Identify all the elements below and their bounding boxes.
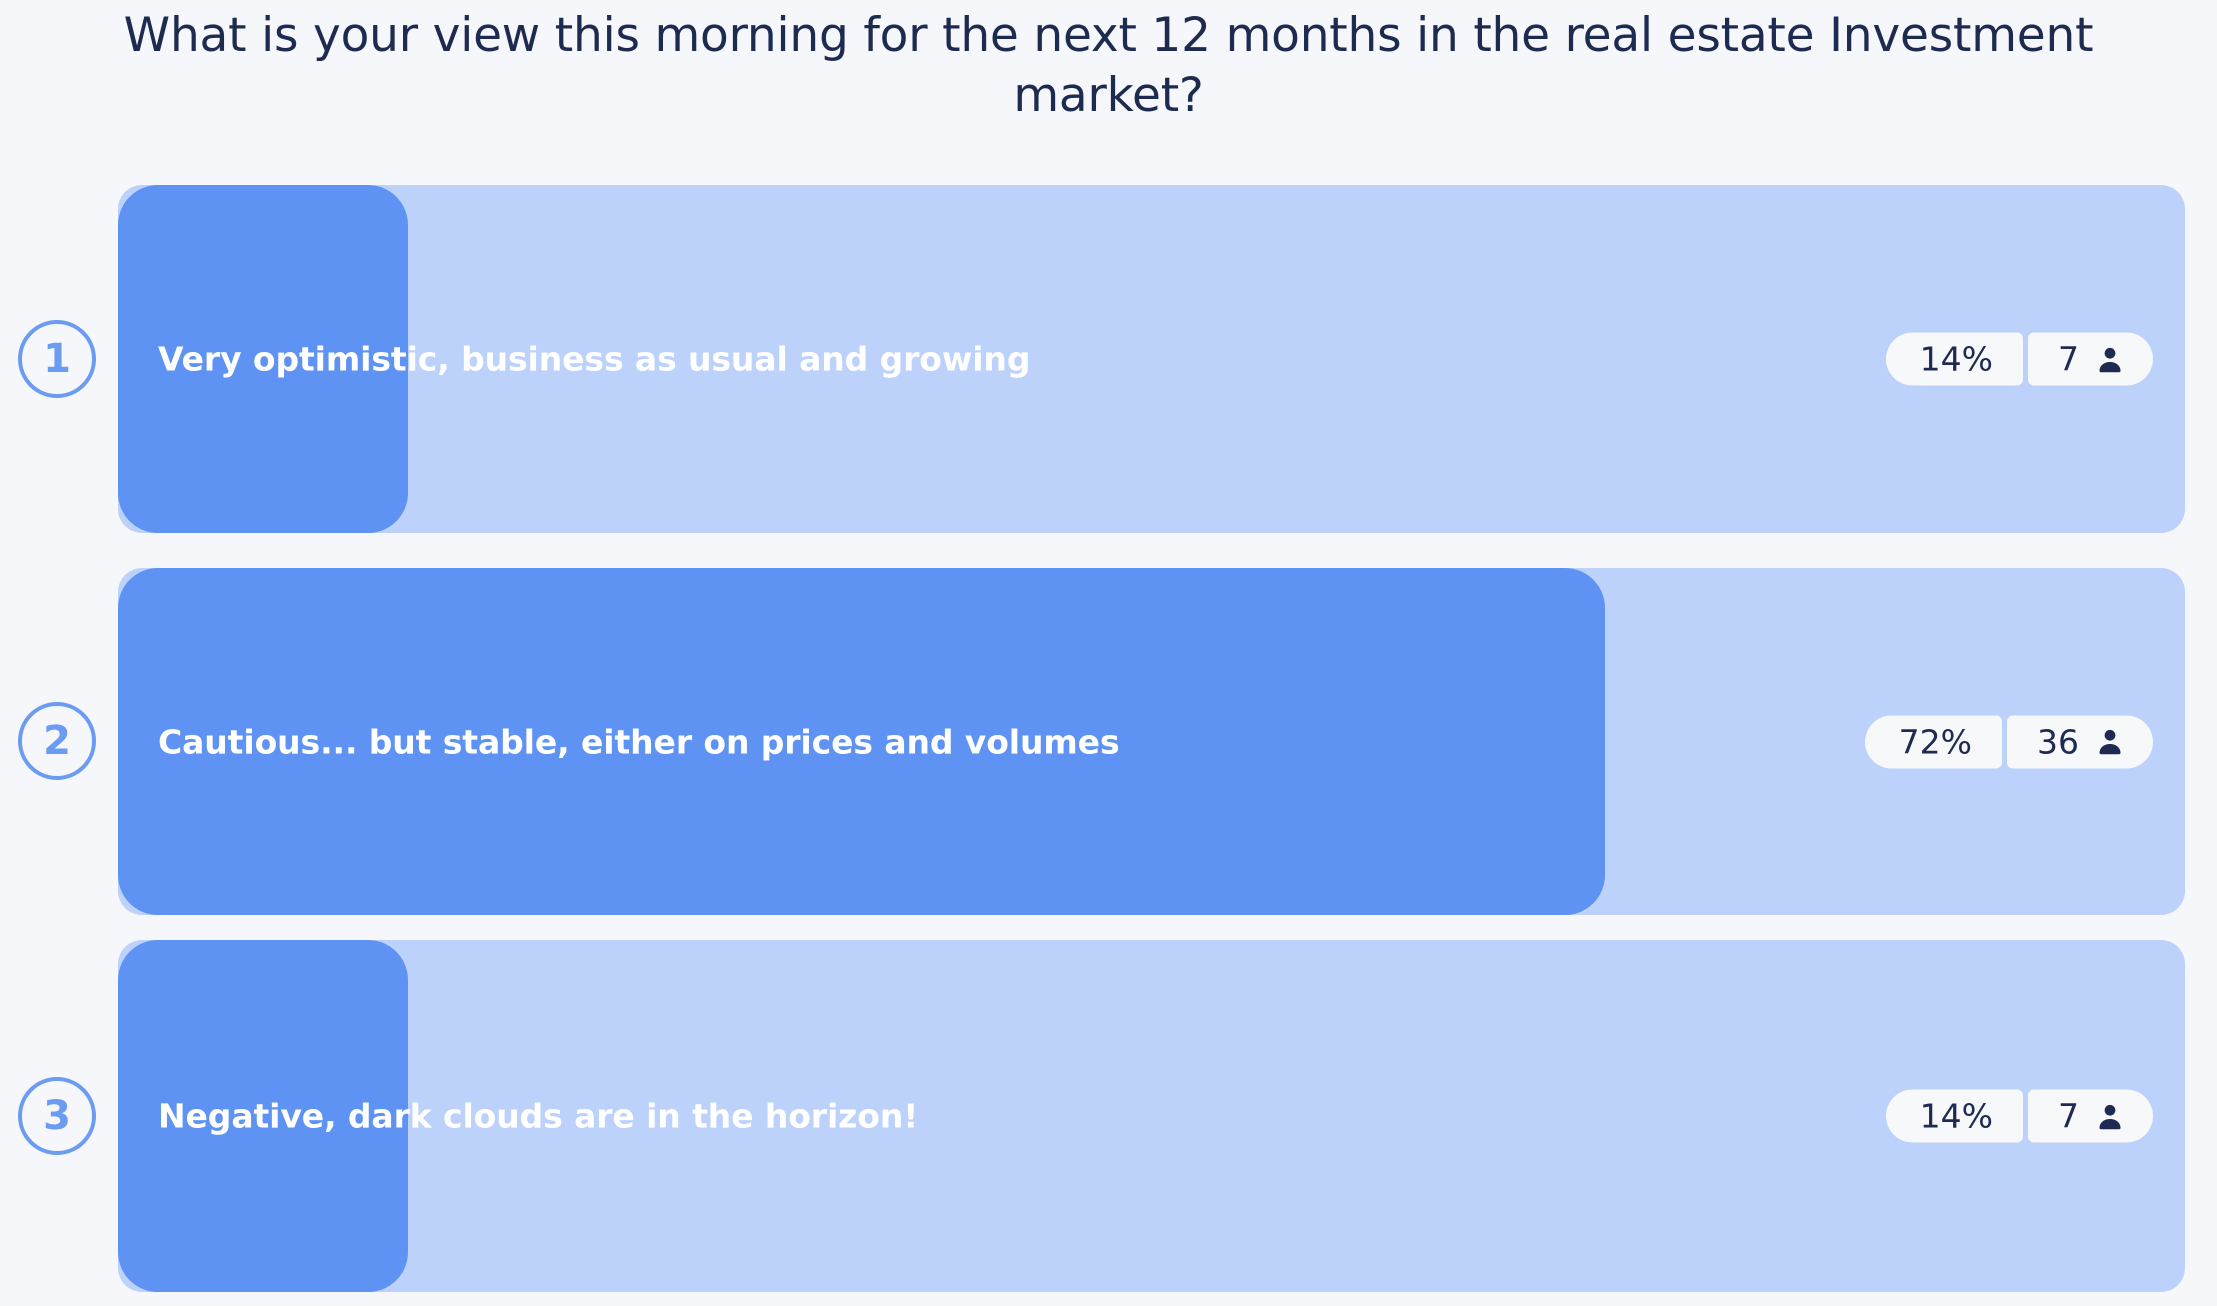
option-index-badge: 3 [18,1077,96,1155]
poll-option-row[interactable]: 1 Very optimistic, business as usual and… [0,185,2217,533]
option-label: Negative, dark clouds are in the horizon… [158,1097,918,1136]
option-votes-group: 7 [2028,1090,2153,1143]
option-label: Cautious... but stable, either on prices… [158,722,1120,761]
poll-option-row[interactable]: 2 Cautious... but stable, either on pric… [0,568,2217,915]
option-bar-track: Cautious... but stable, either on prices… [118,568,2185,915]
option-vote-count: 7 [2058,1100,2079,1133]
option-result-badge: 14% 7 [1886,1090,2153,1143]
person-icon [2095,343,2125,375]
option-vote-count: 7 [2058,343,2079,376]
person-icon [2095,726,2125,758]
option-index-badge: 1 [18,320,96,398]
option-vote-count: 36 [2037,725,2079,758]
option-percent: 14% [1886,333,2023,386]
option-index-badge: 2 [18,702,96,780]
option-votes-group: 36 [2007,715,2153,768]
poll-option-row[interactable]: 3 Negative, dark clouds are in the horiz… [0,940,2217,1292]
option-bar-track: Negative, dark clouds are in the horizon… [118,940,2185,1292]
person-icon [2095,1100,2125,1132]
option-percent: 14% [1886,1090,2023,1143]
option-percent: 72% [1865,715,2002,768]
option-result-badge: 14% 7 [1886,333,2153,386]
poll-options-list: 1 Very optimistic, business as usual and… [0,0,2217,1306]
option-result-badge: 72% 36 [1865,715,2153,768]
option-bar-track: Very optimistic, business as usual and g… [118,185,2185,533]
option-votes-group: 7 [2028,333,2153,386]
poll-results-panel: What is your view this morning for the n… [0,0,2217,1306]
option-label: Very optimistic, business as usual and g… [158,340,1030,379]
